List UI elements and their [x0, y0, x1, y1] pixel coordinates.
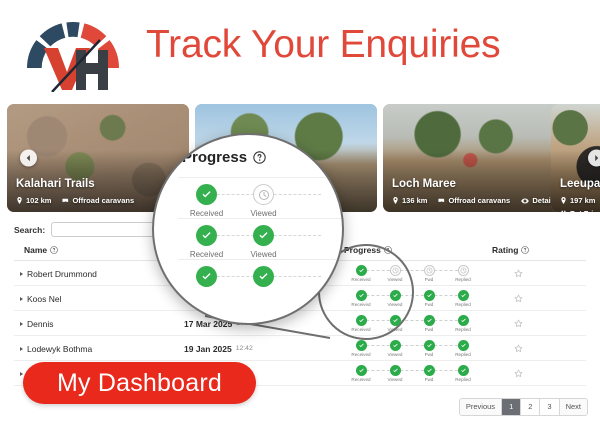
expand-caret-icon[interactable] — [20, 297, 23, 301]
card-distance: 136 km — [402, 196, 427, 205]
row-name: Lodewyk Bothma — [27, 344, 92, 354]
card-category: Offroad caravans — [72, 196, 134, 205]
star-icon[interactable] — [514, 290, 523, 308]
row-progress-cell: ReceivedViewedFwdReplied — [344, 336, 484, 361]
progress-step: Replied — [446, 315, 480, 332]
clock-icon — [390, 265, 401, 276]
magnifier-progress-step — [178, 266, 235, 291]
row-progress-cell: ReceivedViewedFwdReplied — [344, 311, 484, 336]
check-icon — [356, 315, 367, 326]
progress-step-label: Replied — [455, 377, 471, 382]
magnifier-progress-step: Viewed — [235, 225, 292, 259]
pagination-previous[interactable]: Previous — [460, 399, 502, 415]
expand-caret-icon[interactable] — [20, 272, 23, 276]
magnifier-step-label: Viewed — [250, 209, 276, 218]
progress-step: Viewed — [378, 290, 412, 307]
row-name: Robert Drummond — [27, 269, 97, 279]
magnifier-progress-step: Received — [178, 184, 235, 218]
chevron-right-icon — [593, 155, 600, 162]
progress-step-label: Fwd — [425, 277, 434, 282]
expand-caret-icon[interactable] — [20, 322, 23, 326]
check-icon — [390, 340, 401, 351]
track-your-enquiries-page: Track Your Enquiries Kalahari Trails 102… — [0, 0, 600, 428]
column-header-progress[interactable]: Progress — [344, 245, 392, 255]
eye-icon — [521, 197, 529, 205]
magnifier-row: ReceivedViewed — [178, 177, 344, 217]
card-meta: 136 km Offroad caravans — [392, 196, 510, 205]
check-icon — [458, 365, 469, 376]
progress-step-label: Viewed — [388, 352, 403, 357]
page-title: Track Your Enquiries — [146, 21, 500, 69]
progress-step: Fwd — [412, 365, 446, 382]
carousel-prev-button[interactable] — [20, 150, 37, 167]
pagination-next[interactable]: Next — [560, 399, 587, 415]
clock-icon — [424, 265, 435, 276]
help-icon[interactable] — [384, 246, 392, 254]
row-progress-cell: ReceivedViewedFwdReplied — [344, 286, 484, 311]
progress-step: Fwd — [412, 340, 446, 357]
column-header-name[interactable]: Name — [24, 245, 58, 255]
page-header: Track Your Enquiries — [0, 0, 600, 98]
card-title: Loch Maree — [392, 178, 456, 190]
magnifier-progress-step: Received — [178, 225, 235, 259]
search-label: Search: — [14, 225, 45, 235]
progress-step-label: Received — [351, 277, 370, 282]
table-row[interactable]: Dennis17 Mar 202520:17ReceivedViewedFwdR… — [14, 311, 586, 336]
check-icon — [253, 266, 274, 287]
property-card[interactable]: Leeupan 197 km Pet Frien — [551, 104, 600, 212]
progress-step-label: Replied — [455, 302, 471, 307]
card-meta-secondary: Pet Frien — [560, 209, 600, 212]
paw-icon — [560, 210, 567, 212]
check-icon — [356, 265, 367, 276]
chevron-left-icon — [25, 155, 32, 162]
my-dashboard-button[interactable]: My Dashboard — [23, 362, 256, 404]
row-rating-cell[interactable] — [514, 286, 523, 311]
expand-caret-icon[interactable] — [20, 347, 23, 351]
check-icon — [390, 315, 401, 326]
row-rating-cell[interactable] — [514, 311, 523, 336]
magnifier-row: ReceivedViewed — [178, 218, 344, 258]
progress-step: Viewed — [378, 340, 412, 357]
row-name-cell[interactable]: Dennis — [20, 311, 53, 336]
help-icon[interactable] — [50, 246, 58, 254]
check-icon — [458, 340, 469, 351]
check-icon — [390, 365, 401, 376]
column-header-name-label: Name — [24, 245, 47, 255]
pin-icon — [392, 197, 399, 204]
progress-step-label: Replied — [455, 327, 471, 332]
row-rating-cell[interactable] — [514, 261, 523, 286]
progress-step-label: Received — [351, 327, 370, 332]
star-icon[interactable] — [514, 315, 523, 333]
progress-step: Fwd — [412, 290, 446, 307]
check-icon — [356, 290, 367, 301]
carousel-next-button[interactable] — [588, 150, 600, 167]
progress-step-label: Received — [351, 377, 370, 382]
check-icon — [458, 315, 469, 326]
row-date: 19 Jan 2025 — [184, 344, 232, 354]
vh-speedometer-logo — [14, 6, 132, 92]
check-icon — [390, 290, 401, 301]
star-icon[interactable] — [514, 265, 523, 283]
check-icon — [356, 365, 367, 376]
help-icon — [253, 151, 266, 164]
check-icon — [196, 184, 217, 205]
card-title: Kalahari Trails — [16, 178, 95, 190]
progress-step: Received — [344, 365, 378, 382]
card-meta: 102 km Offroad caravans — [16, 196, 134, 205]
row-name-cell[interactable]: Koos Nel — [20, 286, 62, 311]
check-icon — [458, 290, 469, 301]
magnifier-title: Progress — [182, 149, 247, 166]
check-icon — [253, 225, 274, 246]
row-date-cell: 19 Jan 202512:42 — [184, 336, 253, 361]
magnifier-step-label: Received — [190, 209, 223, 218]
pin-icon — [16, 197, 23, 204]
magnifier-row — [178, 259, 344, 299]
progress-step: Replied — [446, 340, 480, 357]
card-distance: 197 km — [570, 196, 595, 205]
progress-step-label: Fwd — [425, 302, 434, 307]
progress-step-label: Replied — [455, 352, 471, 357]
row-time: 12:42 — [236, 345, 253, 352]
progress-step: Fwd — [412, 315, 446, 332]
progress-step: Viewed — [378, 315, 412, 332]
help-icon[interactable] — [521, 246, 529, 254]
star-icon[interactable] — [514, 365, 523, 383]
row-progress-cell: ReceivedViewedFwdReplied — [344, 361, 484, 386]
card-category: Offroad caravans — [448, 196, 510, 205]
magnifier-title-row: Progress — [182, 149, 266, 166]
progress-step-label: Viewed — [388, 327, 403, 332]
progress-step-label: Viewed — [388, 377, 403, 382]
magnifier-step-label: Viewed — [250, 250, 276, 259]
progress-step-label: Viewed — [388, 277, 403, 282]
row-name: Koos Nel — [27, 294, 62, 304]
clock-icon — [458, 265, 469, 276]
magnifier-step-label: Received — [190, 250, 223, 259]
card-distance: 102 km — [26, 196, 51, 205]
row-name: Dennis — [27, 319, 53, 329]
pagination-page-3[interactable]: 3 — [540, 399, 559, 415]
pin-icon — [560, 197, 567, 204]
progress-step: Received — [344, 265, 378, 282]
progress-step: Replied — [446, 290, 480, 307]
progress-step-label: Received — [351, 352, 370, 357]
check-icon — [424, 315, 435, 326]
check-icon — [424, 365, 435, 376]
row-rating-cell[interactable] — [514, 336, 523, 361]
progress-step-label: Viewed — [388, 302, 403, 307]
progress-step-label: Replied — [455, 277, 471, 282]
progress-step: Received — [344, 315, 378, 332]
row-progress-cell: ReceivedViewedFwdReplied — [344, 261, 484, 286]
magnifier-progress-step — [235, 266, 292, 291]
caravan-icon — [438, 197, 445, 204]
caravan-icon — [62, 197, 69, 204]
pagination-page-1[interactable]: 1 — [502, 399, 521, 415]
check-icon — [424, 290, 435, 301]
progress-step-label: Fwd — [425, 327, 434, 332]
row-name-cell[interactable]: Lodewyk Bothma — [20, 336, 92, 361]
card-title: Leeupan — [560, 178, 600, 190]
property-card[interactable]: Loch Maree 136 km Offroad caravans Detai… — [383, 104, 565, 212]
check-icon — [196, 225, 217, 246]
column-header-rating-label: Rating — [492, 245, 518, 255]
column-header-progress-label: Progress — [344, 245, 381, 255]
magnifier-progress-step: Viewed — [235, 184, 292, 218]
progress-step: Replied — [446, 365, 480, 382]
progress-step: Received — [344, 290, 378, 307]
pagination-page-2[interactable]: 2 — [521, 399, 540, 415]
card-meta: 197 km — [560, 196, 595, 205]
progress-step-label: Fwd — [425, 377, 434, 382]
expand-caret-icon[interactable] — [20, 372, 23, 376]
table-row[interactable]: Lodewyk Bothma19 Jan 202512:42ReceivedVi… — [14, 336, 586, 361]
progress-step: Fwd — [412, 265, 446, 282]
check-icon — [356, 340, 367, 351]
star-icon[interactable] — [514, 340, 523, 358]
progress-step: Received — [344, 340, 378, 357]
column-header-rating[interactable]: Rating — [492, 245, 529, 255]
card-category: Pet Frien — [570, 209, 600, 212]
clock-icon — [253, 184, 274, 205]
check-icon — [424, 340, 435, 351]
pagination[interactable]: Previous 1 2 3 Next — [459, 398, 588, 416]
magnifier-zoom-view: Progress ReceivedViewed ReceivedViewed — [152, 133, 344, 325]
progress-step-label: Received — [351, 302, 370, 307]
progress-step-label: Fwd — [425, 352, 434, 357]
progress-step: Replied — [446, 265, 480, 282]
row-rating-cell[interactable] — [514, 361, 523, 386]
row-name-cell[interactable]: Robert Drummond — [20, 261, 97, 286]
progress-step: Viewed — [378, 365, 412, 382]
progress-step: Viewed — [378, 265, 412, 282]
check-icon — [196, 266, 217, 287]
